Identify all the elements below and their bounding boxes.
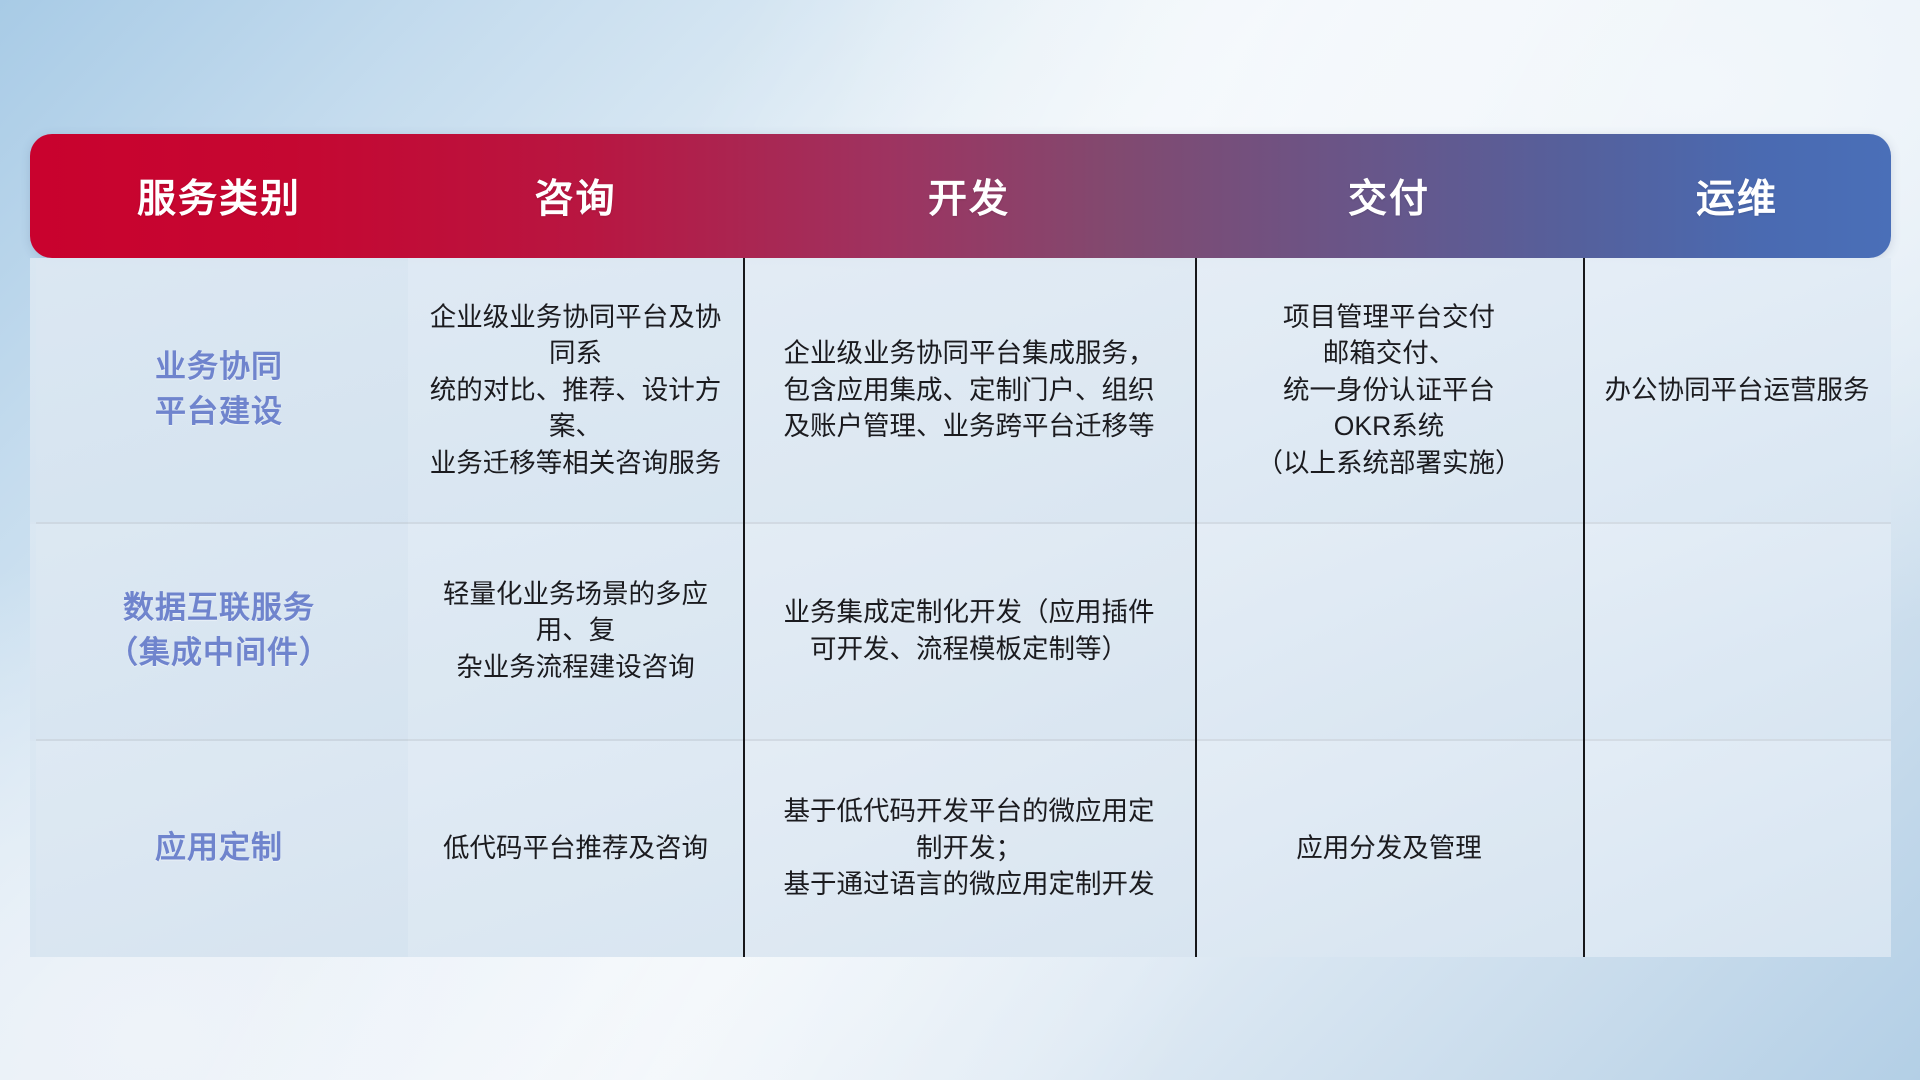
column-divider (1195, 522, 1197, 739)
cell-text: 办公协同平台运营服务 (1605, 372, 1870, 409)
table-row: 应用定制 低代码平台推荐及咨询 基于低代码开发平台的微应用定 制开发； 基于通过… (30, 739, 1891, 957)
table-row: 数据互联服务 （集成中间件） 轻量化业务场景的多应用、复 杂业务流程建设咨询 业… (30, 522, 1891, 739)
column-divider (1583, 739, 1585, 957)
column-header-ops: 运维 (1583, 168, 1891, 224)
column-divider (1195, 739, 1197, 957)
cell-text: 企业级业务协同平台及协同系 统的对比、推荐、设计方案、 业务迁移等相关咨询服务 (426, 299, 725, 482)
column-header-category: 服务类别 (30, 168, 408, 224)
cell-text: 轻量化业务场景的多应用、复 杂业务流程建设咨询 (426, 576, 725, 686)
cell-ops (1583, 522, 1891, 739)
column-divider (1583, 258, 1585, 522)
row-label-text: 业务协同 平台建设 (155, 345, 283, 435)
service-matrix-table: 服务类别 咨询 开发 交付 运维 业务协同 平台建设 企业级业务协同平台及协同系… (30, 134, 1891, 957)
slide-canvas: 服务类别 咨询 开发 交付 运维 业务协同 平台建设 企业级业务协同平台及协同系… (0, 0, 1920, 1080)
cell-consulting: 企业级业务协同平台及协同系 统的对比、推荐、设计方案、 业务迁移等相关咨询服务 (408, 258, 743, 522)
column-header-consulting: 咨询 (408, 168, 743, 224)
row-label-text: 应用定制 (155, 826, 283, 871)
cell-text: 基于低代码开发平台的微应用定 制开发； 基于通过语言的微应用定制开发 (784, 793, 1155, 903)
row-label-cell: 应用定制 (30, 739, 408, 957)
column-divider (1195, 258, 1197, 522)
column-header-delivery: 交付 (1195, 168, 1583, 224)
row-label-text: 数据互联服务 （集成中间件） (107, 586, 331, 676)
cell-text: 应用分发及管理 (1296, 830, 1482, 867)
cell-text: 业务集成定制化开发（应用插件 可开发、流程模板定制等） (784, 594, 1155, 667)
cell-delivery: 项目管理平台交付 邮箱交付、 统一身份认证平台 OKR系统 （以上系统部署实施） (1195, 258, 1583, 522)
row-label-cell: 业务协同 平台建设 (30, 258, 408, 522)
cell-development: 基于低代码开发平台的微应用定 制开发； 基于通过语言的微应用定制开发 (743, 739, 1195, 957)
cell-development: 企业级业务协同平台集成服务， 包含应用集成、定制门户、组织 及账户管理、业务跨平… (743, 258, 1195, 522)
column-divider (743, 258, 745, 522)
cell-delivery: 应用分发及管理 (1195, 739, 1583, 957)
cell-consulting: 轻量化业务场景的多应用、复 杂业务流程建设咨询 (408, 522, 743, 739)
column-header-development: 开发 (743, 168, 1195, 224)
cell-text: 企业级业务协同平台集成服务， 包含应用集成、定制门户、组织 及账户管理、业务跨平… (784, 335, 1155, 445)
cell-ops: 办公协同平台运营服务 (1583, 258, 1891, 522)
cell-delivery (1195, 522, 1583, 739)
column-divider (1583, 522, 1585, 739)
row-label-cell: 数据互联服务 （集成中间件） (30, 522, 408, 739)
table-row: 业务协同 平台建设 企业级业务协同平台及协同系 统的对比、推荐、设计方案、 业务… (30, 258, 1891, 522)
cell-development: 业务集成定制化开发（应用插件 可开发、流程模板定制等） (743, 522, 1195, 739)
table-header-row: 服务类别 咨询 开发 交付 运维 (30, 134, 1891, 258)
cell-text: 低代码平台推荐及咨询 (443, 830, 708, 867)
column-divider (743, 739, 745, 957)
cell-text: 项目管理平台交付 邮箱交付、 统一身份认证平台 OKR系统 （以上系统部署实施） (1257, 299, 1522, 482)
cell-consulting: 低代码平台推荐及咨询 (408, 739, 743, 957)
column-divider (743, 522, 745, 739)
table-body: 业务协同 平台建设 企业级业务协同平台及协同系 统的对比、推荐、设计方案、 业务… (30, 258, 1891, 957)
cell-ops (1583, 739, 1891, 957)
